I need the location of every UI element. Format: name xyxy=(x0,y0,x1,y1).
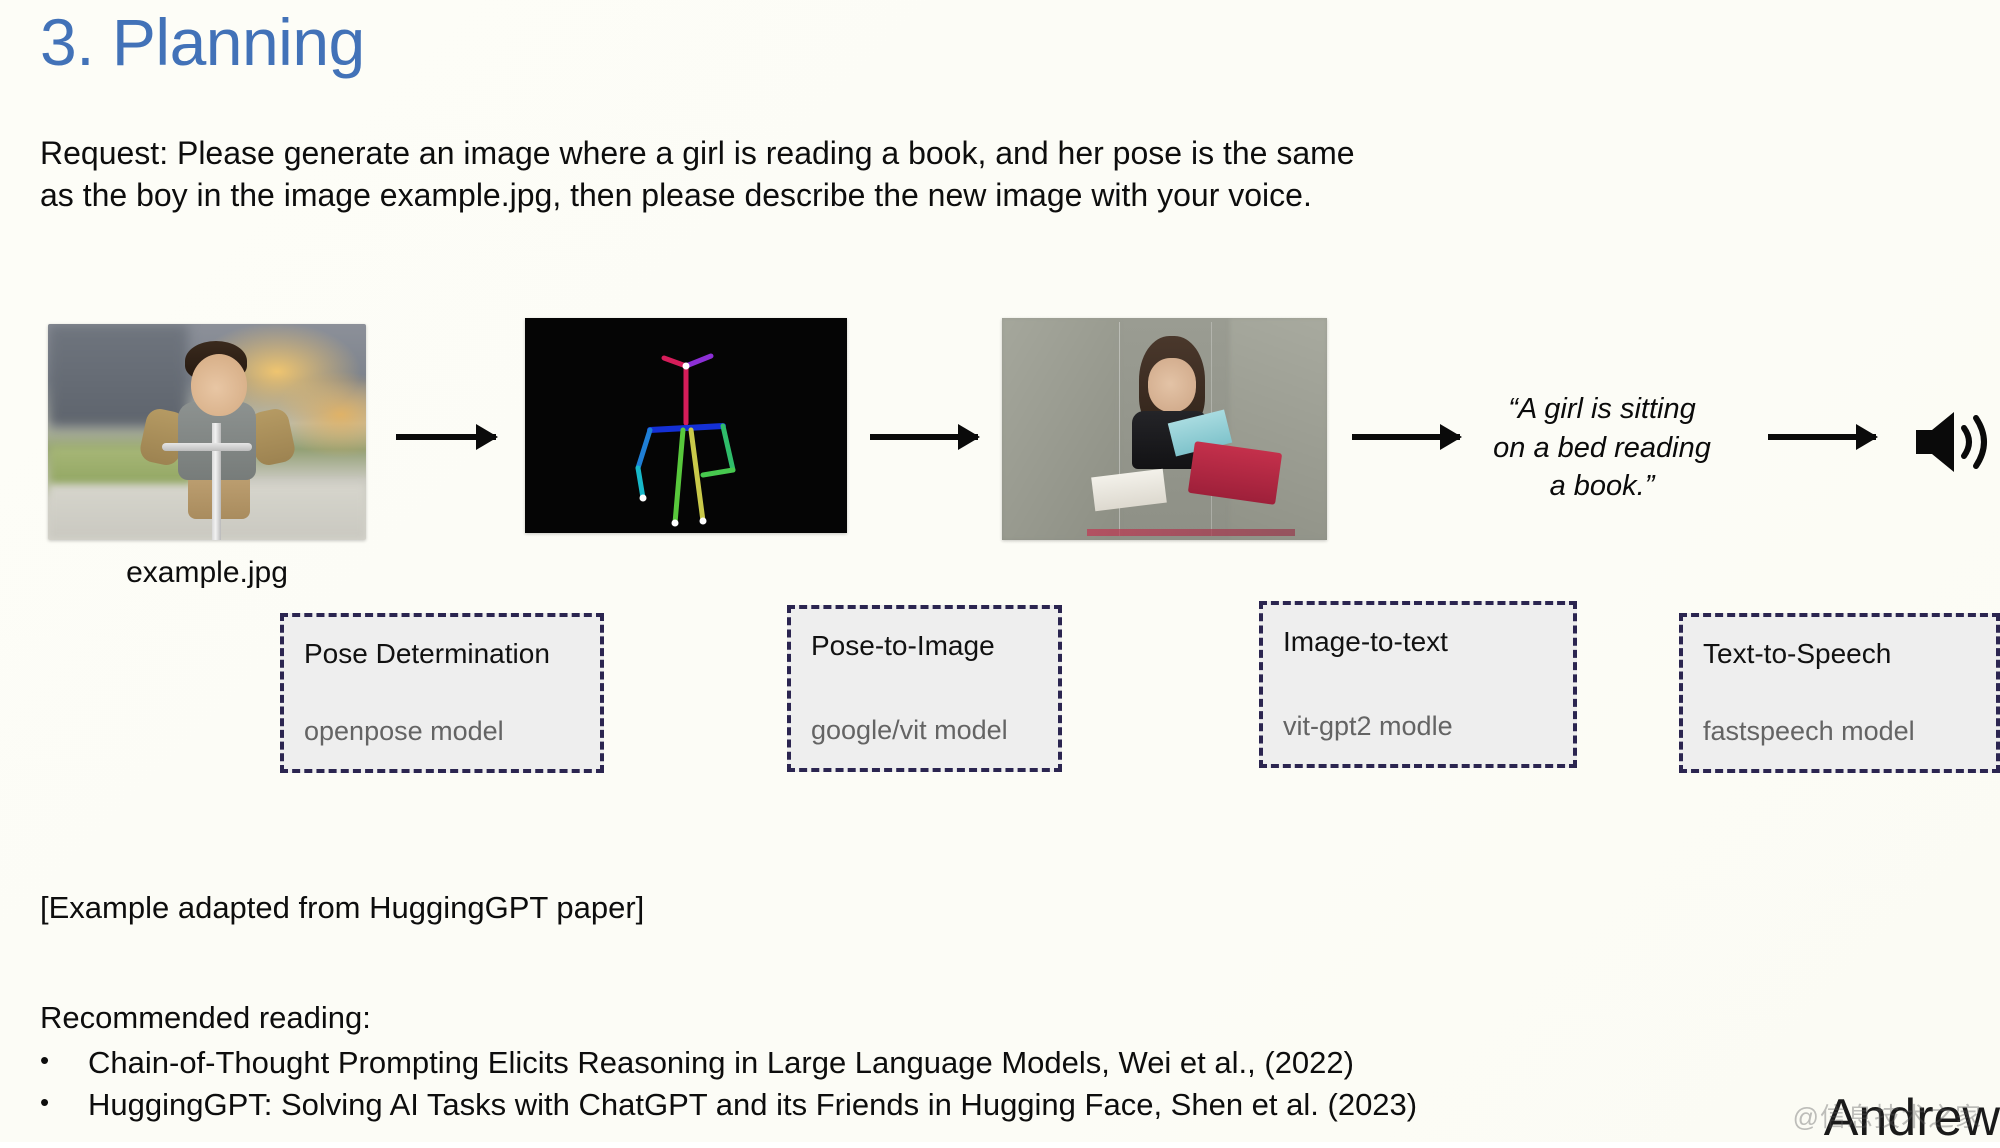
task-box-pose-to-image: Pose-to-Image google/vit model xyxy=(787,605,1062,772)
generated-caption-quote: “A girl is sitting on a bed reading a bo… xyxy=(1468,390,1736,506)
task-box-image-to-text: Image-to-text vit-gpt2 modle xyxy=(1259,601,1577,768)
task-title: Image-to-text xyxy=(1283,627,1553,658)
task-box-text-to-speech: Text-to-Speech fastspeech model xyxy=(1679,613,2000,773)
request-paragraph: Request: Please generate an image where … xyxy=(40,133,1720,216)
arrow-icon-2 xyxy=(870,434,978,440)
task-model: vit-gpt2 modle xyxy=(1283,711,1453,742)
list-item: • HuggingGPT: Solving AI Tasks with Chat… xyxy=(40,1084,1740,1126)
quote-line-3: a book.” xyxy=(1468,467,1736,506)
request-line-2: as the boy in the image example.jpg, the… xyxy=(40,175,1720,217)
pose-skeleton-image xyxy=(525,318,847,533)
quote-line-2: on a bed reading xyxy=(1468,429,1736,468)
bullet-icon: • xyxy=(40,1084,88,1122)
arrow-icon-3 xyxy=(1352,434,1460,440)
recommended-reading-heading: Recommended reading: xyxy=(40,1000,371,1036)
bullet-icon: • xyxy=(40,1042,88,1080)
task-model: google/vit model xyxy=(811,715,1008,746)
request-line-1: Request: Please generate an image where … xyxy=(40,133,1720,175)
list-item: • Chain-of-Thought Prompting Elicits Rea… xyxy=(40,1042,1740,1084)
recommended-reading-list: • Chain-of-Thought Prompting Elicits Rea… xyxy=(40,1042,1740,1126)
example-image-caption: example.jpg xyxy=(48,556,366,590)
generated-girl-image xyxy=(1002,318,1327,540)
example-image xyxy=(48,324,366,540)
page-title: 3. Planning xyxy=(40,8,365,77)
example-source-note: [Example adapted from HuggingGPT paper] xyxy=(40,890,644,926)
task-title: Pose-to-Image xyxy=(811,631,1038,662)
slide-canvas: 3. Planning Request: Please generate an … xyxy=(0,0,2000,1142)
task-model: openpose model xyxy=(304,716,504,747)
reading-text: Chain-of-Thought Prompting Elicits Reaso… xyxy=(88,1042,1354,1084)
watermark: @信息技术之家 xyxy=(1793,1097,1982,1134)
speaker-icon xyxy=(1910,406,2000,478)
arrow-icon-1 xyxy=(396,434,496,440)
reading-text: HuggingGPT: Solving AI Tasks with ChatGP… xyxy=(88,1084,1417,1126)
arrow-icon-4 xyxy=(1768,434,1876,440)
quote-line-1: “A girl is sitting xyxy=(1468,390,1736,429)
task-title: Pose Determination xyxy=(304,639,580,670)
task-model: fastspeech model xyxy=(1703,716,1915,747)
pipeline-row: “A girl is sitting on a bed reading a bo… xyxy=(0,318,2000,568)
task-title: Text-to-Speech xyxy=(1703,639,1976,670)
task-box-pose-determination: Pose Determination openpose model xyxy=(280,613,604,773)
